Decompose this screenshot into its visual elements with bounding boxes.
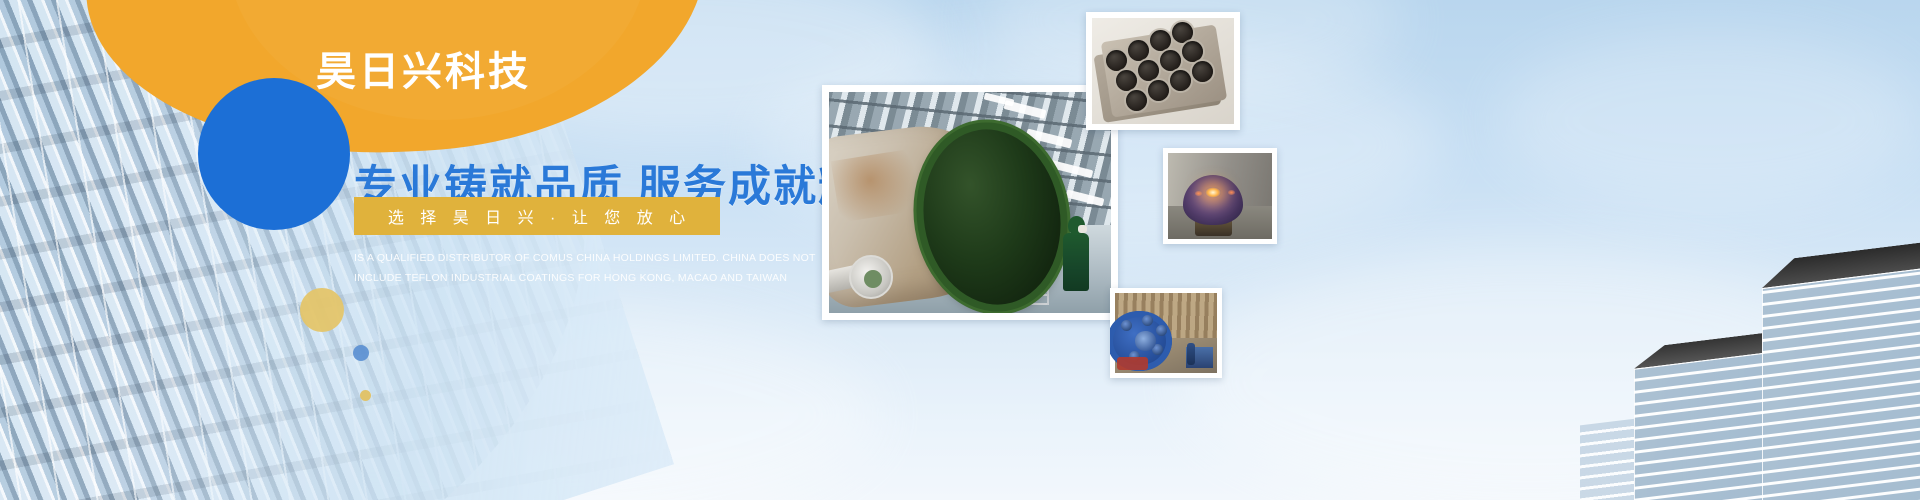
muffin-cup [1106,50,1127,71]
tagline-bar: 选 择 昊 日 兴 · 让 您 放 心 [354,197,720,235]
promo-banner: 昊日兴科技 专业铸就品质 服务成就辉煌 选 择 昊 日 兴 · 让 您 放 心 … [0,0,1920,500]
muffin-cup [1150,30,1171,51]
glowing-coated-vessel-photo [1163,148,1277,244]
muffin-cup [1116,70,1137,91]
yard-scene [1115,293,1217,373]
nonstick-muffin-baking-pan-photo [1086,12,1240,130]
muffin-cup [1172,22,1193,43]
flange-bolt-hole [1142,315,1153,326]
muffin-cup [1170,70,1191,91]
fineprint-block: IS A QUALIFIED DISTRIBUTOR OF COMUS CHIN… [354,248,754,288]
flange-hub [1135,331,1155,350]
person-figure [1187,343,1195,365]
cloud-decoration [1500,30,1920,210]
muffin-cup [1182,41,1203,62]
fineprint-line-1: IS A QUALIFIED DISTRIBUTOR OF COMUS CHIN… [354,248,754,268]
gold-circle-decoration [300,288,344,332]
company-name: 昊日兴科技 [316,52,531,92]
gold-dot-decoration [360,390,371,401]
coated-bell-vessel [1183,175,1243,225]
muffin-cup [1148,80,1169,101]
industrial-vessel-green-coating-photo [822,85,1118,320]
worker-mask [1078,225,1087,233]
muffin-cup [1126,90,1147,111]
factory-scene [829,92,1111,313]
muffin-cup [1160,50,1181,71]
vessel-side-flange [849,255,893,299]
fineprint-line-2: INCLUDE TEFLON INDUSTRIAL COATINGS FOR H… [354,268,754,288]
building-mid [1634,352,1774,500]
blue-circle-shape [198,78,350,230]
building-near [1762,266,1920,500]
muffin-cup [1128,40,1149,61]
blue-dot-decoration [353,345,369,361]
glow-scene [1168,153,1272,239]
red-marking [1117,357,1148,370]
worker-figure [1063,233,1089,291]
flange-bolt-hole [1156,325,1167,336]
tagline-text: 选 择 昊 日 兴 · 让 您 放 心 [383,204,691,228]
muffin-cup [1192,61,1213,82]
muffin-cup [1138,60,1159,81]
light-spark [1195,191,1202,196]
pan-scene [1092,18,1234,124]
buildings-right-image [1620,250,1920,500]
blue-flange-component-photo [1110,288,1222,378]
